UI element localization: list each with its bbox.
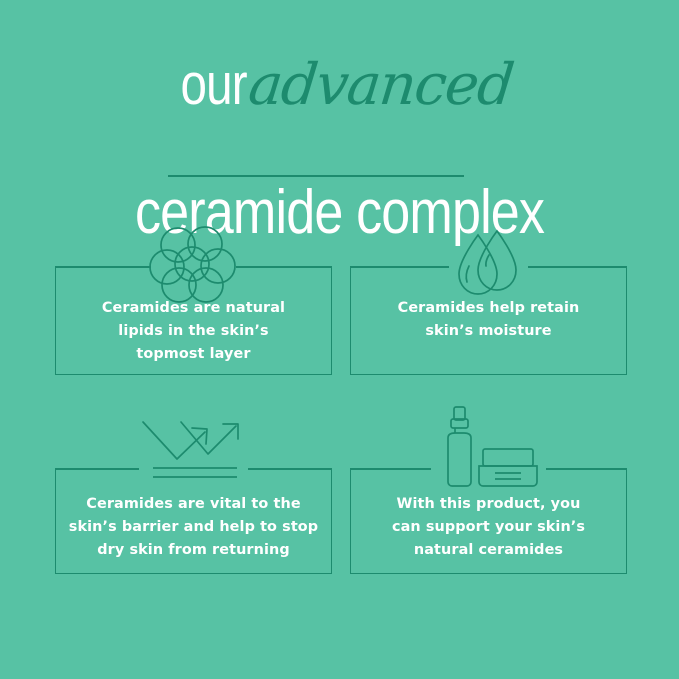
card-text-line: dry skin from returning — [55, 539, 332, 562]
title-line-2: ceramide complex — [0, 180, 679, 246]
card-border-top-left — [56, 468, 139, 470]
card-border-top-right — [528, 266, 626, 268]
card-text-line: Ceramides help retain — [350, 297, 627, 320]
card-border-top-left — [56, 266, 151, 268]
card-text-line: Ceramides are natural — [55, 297, 332, 320]
card-text-line: Ceramides are vital to the — [55, 493, 332, 516]
card-text-line: With this product, you — [350, 493, 627, 516]
page-title: our advanced ceramide complex — [0, 52, 679, 114]
card-text-line: lipids in the skin’s — [55, 320, 332, 343]
title-line-1: our advanced — [0, 52, 679, 114]
card-border-top-left — [351, 468, 431, 470]
title-word-advanced: advanced — [246, 57, 516, 114]
card-border-top-right — [546, 468, 626, 470]
infographic-page: our advanced ceramide complex Cerami — [0, 0, 679, 679]
card-border-top-left — [351, 266, 449, 268]
card-text-line: can support your skin’s — [350, 516, 627, 539]
card-text-line: skin’s barrier and help to stop — [55, 516, 332, 539]
title-underline — [168, 175, 464, 177]
card-border-top-right — [236, 266, 331, 268]
card-text: Ceramides are vital to the skin’s barrie… — [55, 493, 332, 562]
card-text-line: natural ceramides — [350, 539, 627, 562]
card-border-top-right — [248, 468, 331, 470]
card-text-line: skin’s moisture — [350, 320, 627, 343]
card-text-line: topmost layer — [55, 343, 332, 366]
card-text: Ceramides help retain skin’s moisture — [350, 297, 627, 343]
card-text: Ceramides are natural lipids in the skin… — [55, 297, 332, 366]
title-word-our: our — [181, 56, 247, 114]
card-text: With this product, you can support your … — [350, 493, 627, 562]
